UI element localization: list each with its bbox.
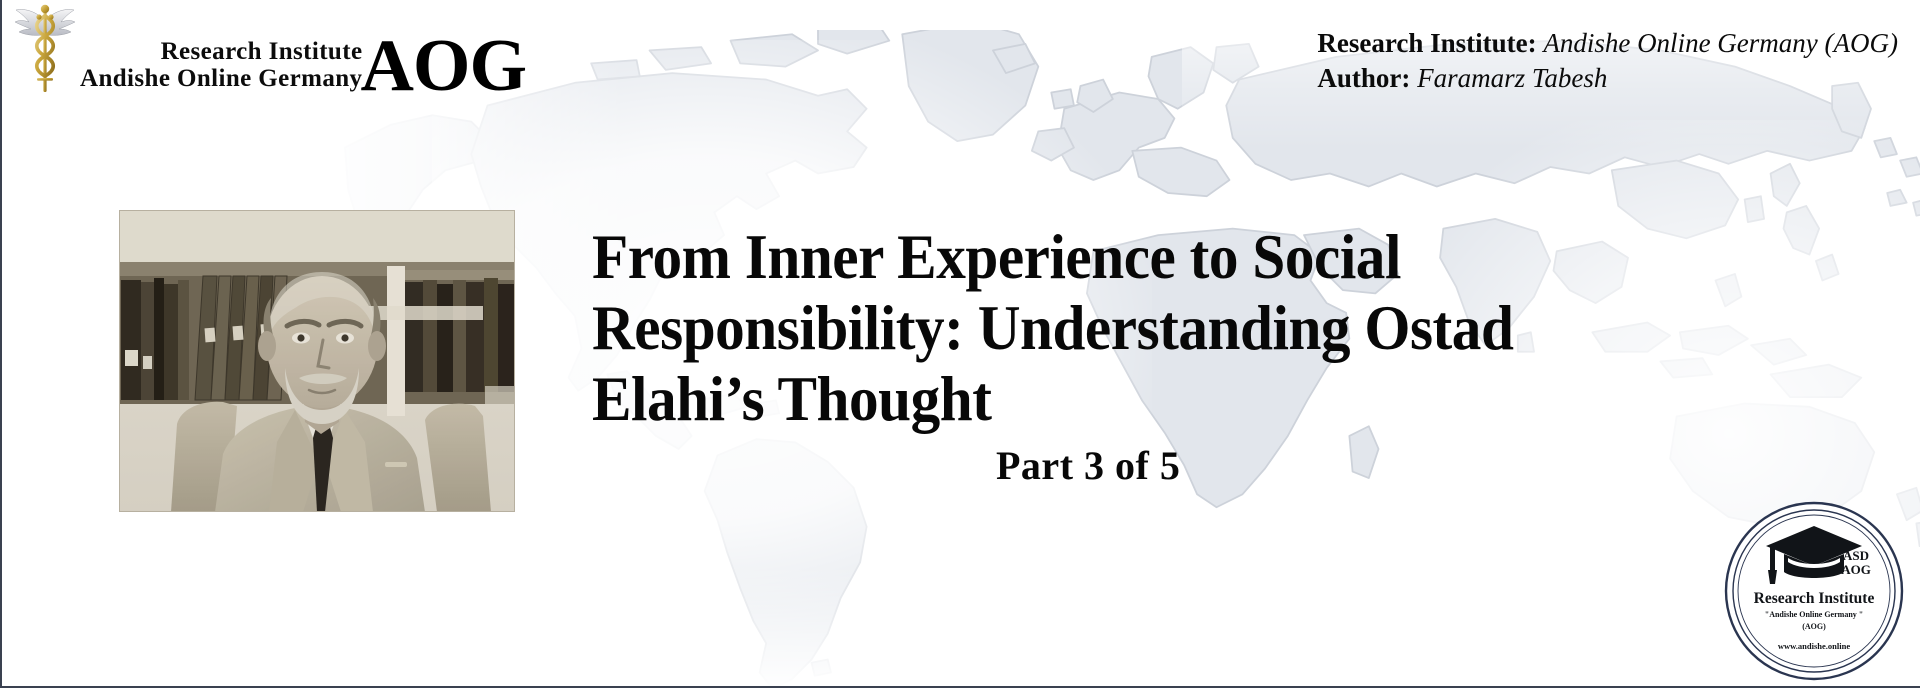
title-block: From Inner Experience to Social Responsi… — [592, 222, 1772, 489]
meta-row-author: Author: Faramarz Tabesh — [1317, 61, 1898, 96]
title-banner: Research Institute Andishe Online German… — [0, 0, 1920, 688]
institute-seal: ASD AOG Research Institute "Andishe Onli… — [1716, 500, 1912, 682]
header-meta: Research Institute: Andishe Online Germa… — [1317, 26, 1898, 96]
seal-abbreviation: (AOG) — [1802, 622, 1826, 631]
meta-label-author: Author: — [1317, 63, 1410, 93]
seal-monogram-line-1: ASD — [1843, 548, 1869, 563]
brand-wordmark: Research Institute Andishe Online German… — [80, 34, 526, 92]
seal-heading: Research Institute — [1754, 590, 1875, 607]
brand-logo: Research Institute Andishe Online German… — [12, 2, 526, 102]
brand-abbreviation-aog: AOG — [360, 38, 526, 96]
page-title-line-1: From Inner Experience to Social — [592, 222, 1701, 293]
meta-label-institute: Research Institute: — [1317, 28, 1536, 58]
portrait-illustration — [119, 210, 515, 512]
brand-line-research-institute: Research Institute — [161, 39, 363, 66]
portrait-photo — [119, 210, 515, 512]
meta-row-institute: Research Institute: Andishe Online Germa… — [1317, 26, 1898, 61]
seal-subheading: "Andishe Online Germany " — [1765, 610, 1863, 619]
seal-monogram-line-2: AOG — [1841, 562, 1871, 577]
part-indicator: Part 3 of 5 — [996, 442, 1772, 489]
meta-value-author: Faramarz Tabesh — [1417, 63, 1607, 93]
brand-lines: Research Institute Andishe Online German… — [80, 39, 362, 92]
page-title-line-3: Elahi’s Thought — [592, 364, 1701, 435]
seal-svg: ASD AOG Research Institute "Andishe Onli… — [1716, 500, 1912, 682]
brand-line-andishe-online-germany: Andishe Online Germany — [80, 66, 362, 93]
page-title-line-2: Responsibility: Understanding Ostad — [592, 293, 1701, 364]
caduceus-icon — [12, 2, 78, 102]
seal-website: www.andishe.online — [1778, 641, 1850, 651]
meta-value-institute: Andishe Online Germany (AOG) — [1543, 28, 1898, 58]
map-fade-bottom — [2, 566, 1920, 686]
